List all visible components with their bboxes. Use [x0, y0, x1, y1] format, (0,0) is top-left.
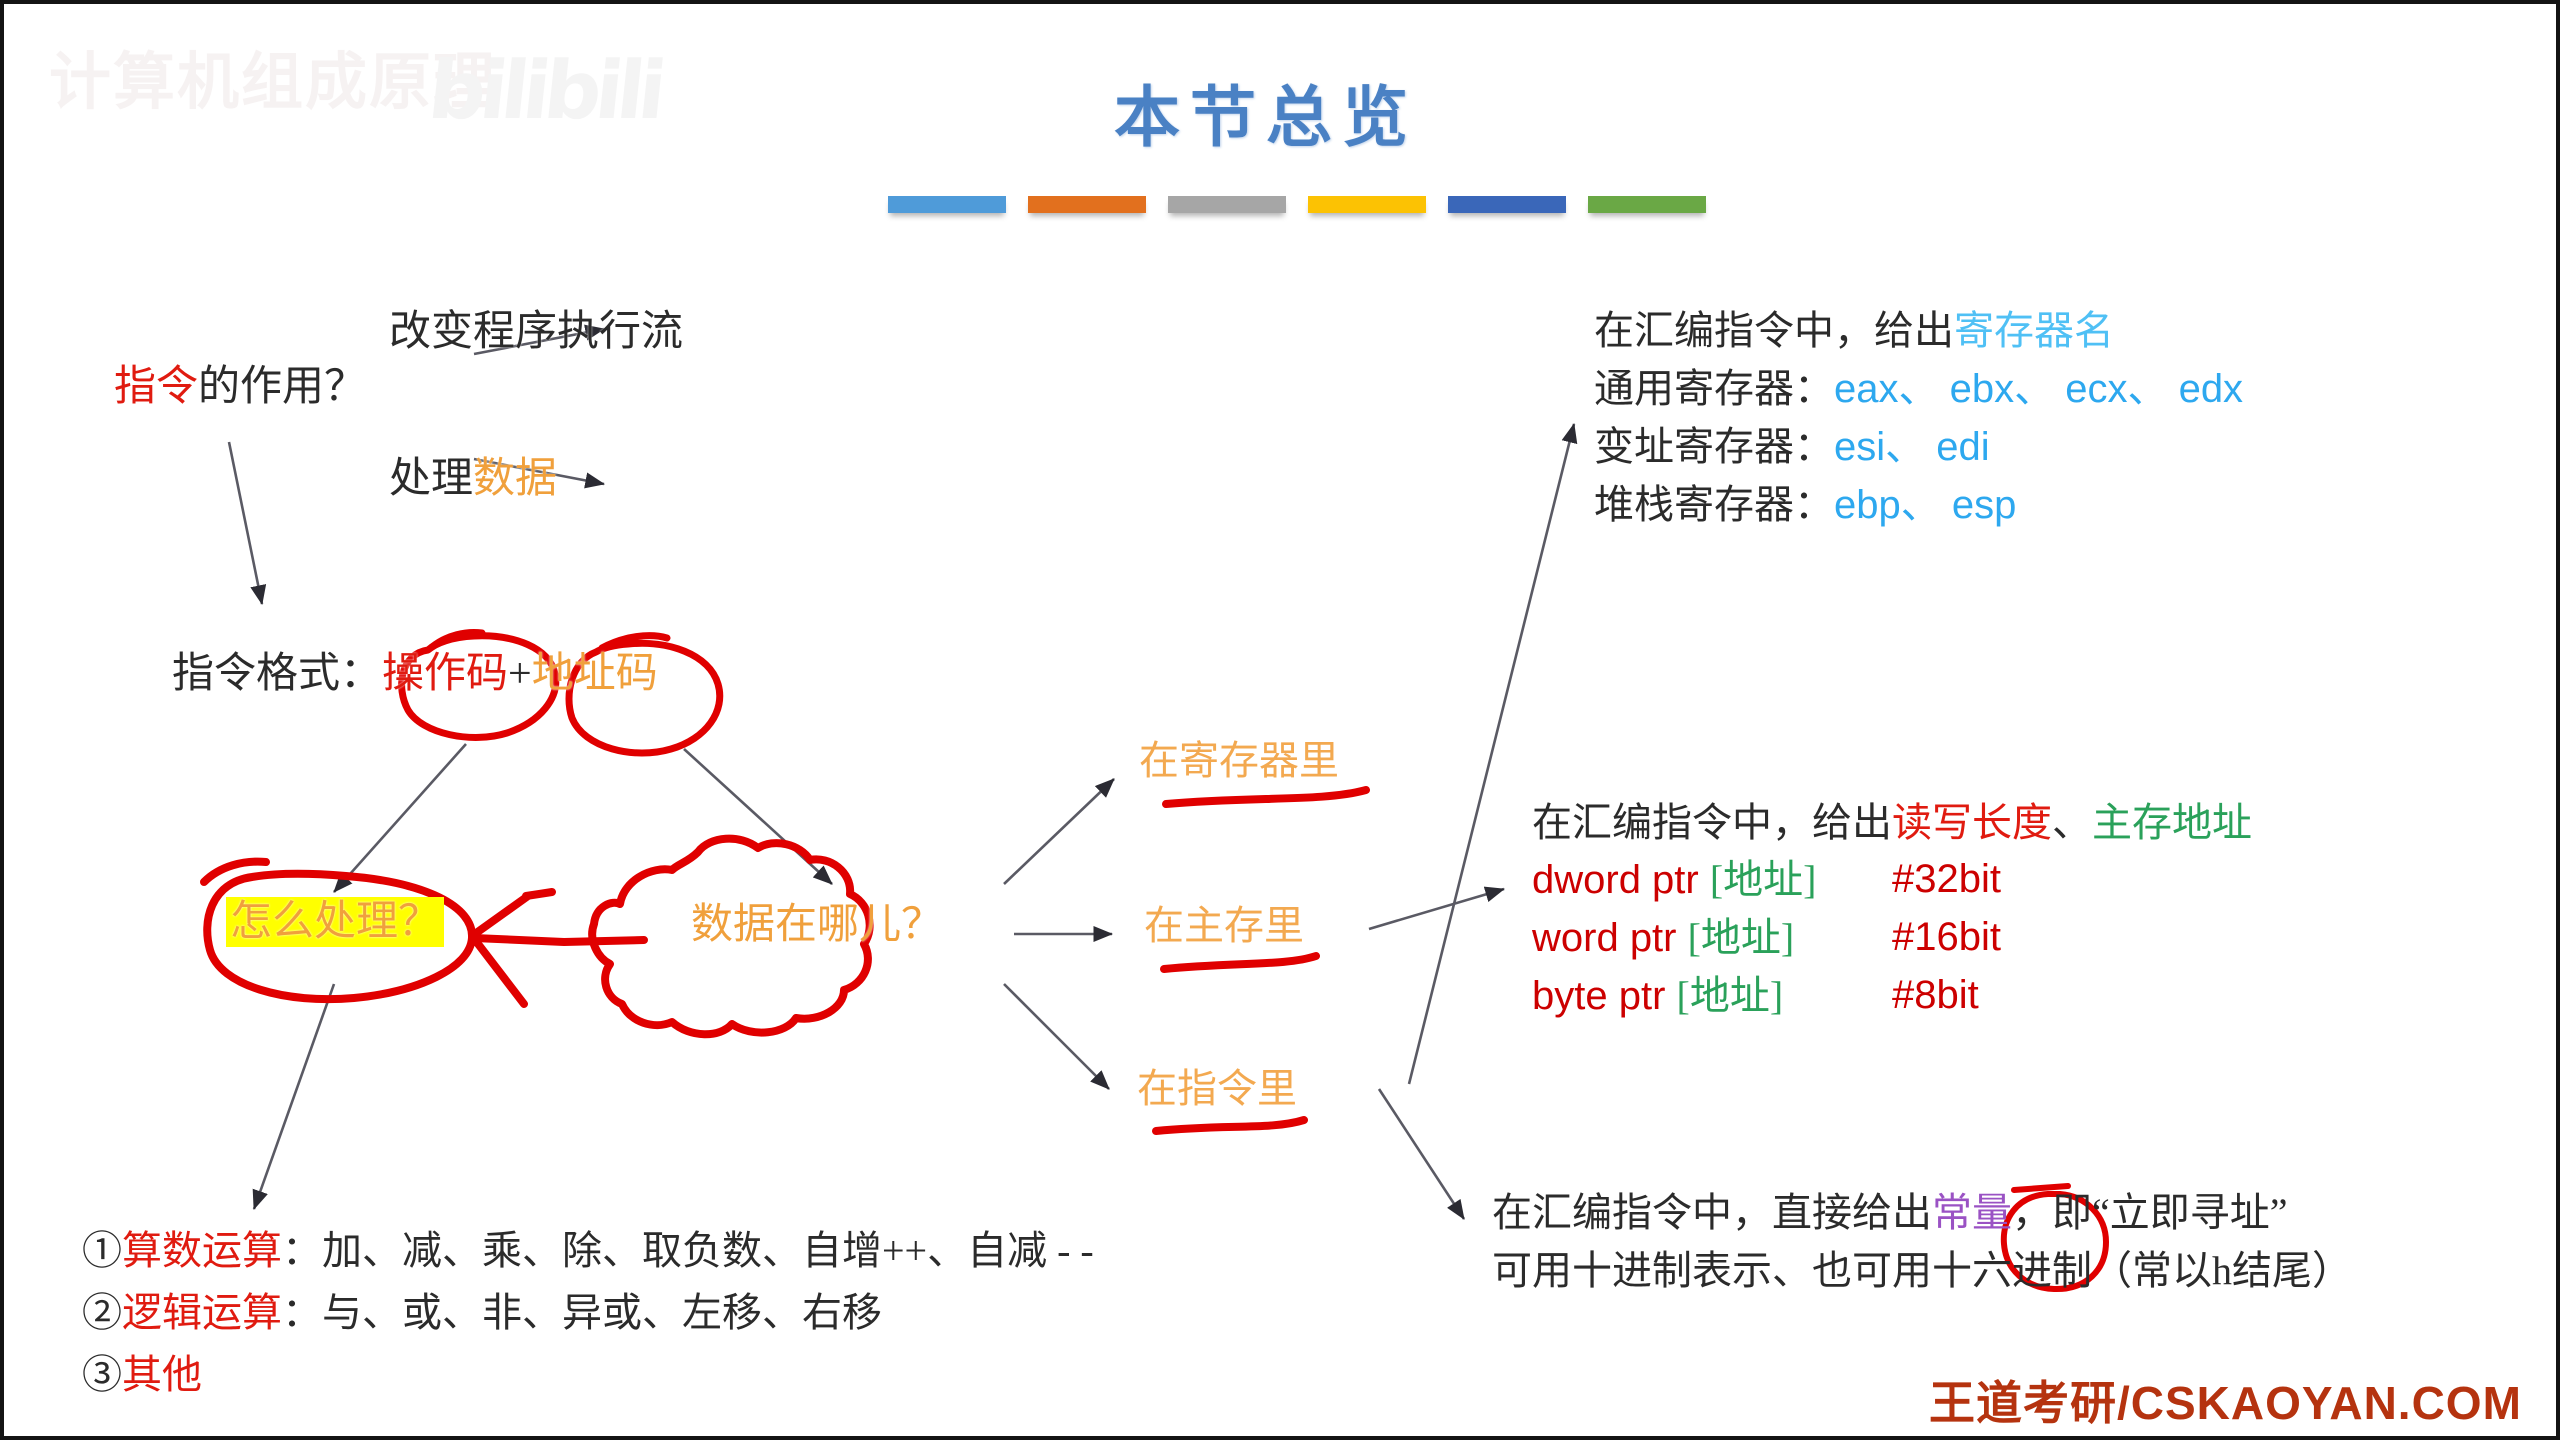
decorative-colorbar [888, 196, 1706, 213]
slide-canvas: 计算机组成原理 bilibili 本节总览 [0, 0, 2560, 1440]
memory-block-line1: 在汇编指令中，给出读写长度、主存地址 [1532, 794, 2252, 851]
colorbar-swatch-6 [1588, 196, 1706, 213]
register-block-line1: 在汇编指令中，给出寄存器名 [1594, 302, 2243, 360]
bilibili-logo-icon: bilibili [424, 44, 665, 137]
memory-row-address: [地址] [1710, 857, 1817, 902]
list-item: ③其他 [82, 1344, 1094, 1406]
register-line1-highlight: 寄存器名 [1954, 308, 2114, 353]
memory-line1-address: 主存地址 [2092, 800, 2252, 845]
memory-line1-length: 读写长度 [1892, 800, 2052, 845]
memory-row-bits: #32bit [1892, 851, 2001, 909]
operation-number: ③ [82, 1352, 122, 1397]
format-address-label: 地址码 [532, 651, 658, 697]
operation-label: 算数运算 [122, 1228, 282, 1273]
list-item: ①算数运算：加、减、乘、除、取负数、自增++、自减 - - [82, 1220, 1094, 1282]
format-opcode-label: 操作码 [382, 651, 508, 697]
memory-row-keyword: byte ptr [1532, 974, 1677, 1018]
memory-row-expression: word ptr [地址] [1532, 909, 1892, 967]
immediate-block-line1: 在汇编指令中，直接给出常量，即“立即寻址” [1492, 1184, 2352, 1242]
node-how-to-process: 怎么处理？ [226, 894, 444, 951]
node-change-flow: 改变程序执行流 [389, 304, 683, 361]
memory-row-keyword: word ptr [1532, 916, 1688, 960]
memory-line1-prefix: 在汇编指令中，给出 [1532, 800, 1892, 845]
colorbar-swatch-4 [1308, 196, 1426, 213]
register-line1-prefix: 在汇编指令中，给出 [1594, 308, 1954, 353]
memory-row: byte ptr [地址] #8bit [1532, 967, 2252, 1025]
node-in-register: 在寄存器里 [1139, 734, 1339, 788]
list-item: ②逻辑运算：与、或、非、异或、左移、右移 [82, 1282, 1094, 1344]
bilibili-watermark: 计算机组成原理 bilibili [49, 52, 639, 162]
operation-number: ① [82, 1228, 122, 1273]
memory-detail-block: 在汇编指令中，给出读写长度、主存地址 dword ptr [地址] #32bit… [1532, 794, 2252, 1025]
format-plus-label: + [508, 651, 532, 697]
page-title: 本节总览 [1114, 64, 1418, 160]
memory-row-address: [地址] [1677, 973, 1784, 1018]
operation-label: 其他 [122, 1352, 202, 1397]
memory-row-bits: #8bit [1892, 967, 1979, 1025]
operation-colon: ： [282, 1290, 322, 1335]
register-row-label: 堆栈寄存器： [1594, 482, 1834, 527]
colorbar-swatch-1 [888, 196, 1006, 213]
brand-watermark: 王道考研/CSKAOYAN.COM [1929, 1372, 2522, 1434]
immediate-detail-block: 在汇编指令中，直接给出常量，即“立即寻址” 可用十进制表示、也可用十六进制（常以… [1492, 1184, 2352, 1300]
node-instruction-role-rest: 的作用？ [198, 364, 366, 410]
operation-number: ② [82, 1290, 122, 1335]
immediate-block-line2: 可用十进制表示、也可用十六进制（常以h结尾） [1492, 1242, 2352, 1300]
immediate-line1-const: 常量 [1932, 1190, 2012, 1235]
register-row-value: esi、 edi [1834, 425, 1990, 469]
colorbar-swatch-3 [1168, 196, 1286, 213]
register-row: 堆栈寄存器：ebp、 esp [1594, 476, 2243, 534]
memory-line1-sep: 、 [2052, 800, 2092, 845]
register-row-label: 变址寄存器： [1594, 424, 1834, 469]
node-process-keyword: 数据 [473, 456, 557, 502]
node-in-instruction: 在指令里 [1137, 1062, 1297, 1116]
memory-row: word ptr [地址] #16bit [1532, 909, 2252, 967]
node-in-memory: 在主存里 [1144, 899, 1304, 953]
register-detail-block: 在汇编指令中，给出寄存器名 通用寄存器：eax、 ebx、 ecx、 edx 变… [1594, 302, 2243, 534]
memory-row-expression: dword ptr [地址] [1532, 851, 1892, 909]
watermark-text: 计算机组成原理 [49, 52, 639, 114]
register-row-label: 通用寄存器： [1594, 366, 1834, 411]
operation-label: 逻辑运算 [122, 1290, 282, 1335]
register-row: 变址寄存器：esi、 edi [1594, 418, 2243, 476]
node-process-prefix: 处理 [389, 456, 473, 502]
node-where-is-data: 数据在哪儿？ [691, 897, 943, 954]
node-how-to-process-label: 怎么处理？ [226, 897, 444, 947]
memory-row: dword ptr [地址] #32bit [1532, 851, 2252, 909]
colorbar-swatch-2 [1028, 196, 1146, 213]
node-instruction-role-keyword: 指令 [114, 364, 198, 410]
operation-items: 加、减、乘、除、取负数、自增++、自减 - - [322, 1228, 1094, 1273]
node-instruction-role: 指令的作用？ [114, 359, 366, 416]
node-instruction-format: 指令格式：操作码+地址码 [172, 646, 658, 703]
memory-row-expression: byte ptr [地址] [1532, 967, 1892, 1025]
register-row-value: ebp、 esp [1834, 483, 2016, 527]
colorbar-swatch-5 [1448, 196, 1566, 213]
format-prefix-label: 指令格式： [172, 651, 382, 697]
immediate-line1-prefix: 在汇编指令中，直接给出 [1492, 1190, 1932, 1235]
register-row-value: eax、 ebx、 ecx、 edx [1834, 367, 2243, 411]
register-row: 通用寄存器：eax、 ebx、 ecx、 edx [1594, 360, 2243, 418]
memory-row-bits: #16bit [1892, 909, 2001, 967]
memory-row-keyword: dword ptr [1532, 858, 1710, 902]
operations-list: ①算数运算：加、减、乘、除、取负数、自增++、自减 - - ②逻辑运算：与、或、… [82, 1220, 1094, 1406]
operation-colon: ： [282, 1228, 322, 1273]
node-process-data: 处理数据 [389, 451, 557, 508]
immediate-line1-suffix: ，即“立即寻址” [2012, 1190, 2288, 1235]
memory-row-address: [地址] [1688, 915, 1795, 960]
operation-items: 与、或、非、异或、左移、右移 [322, 1290, 882, 1335]
